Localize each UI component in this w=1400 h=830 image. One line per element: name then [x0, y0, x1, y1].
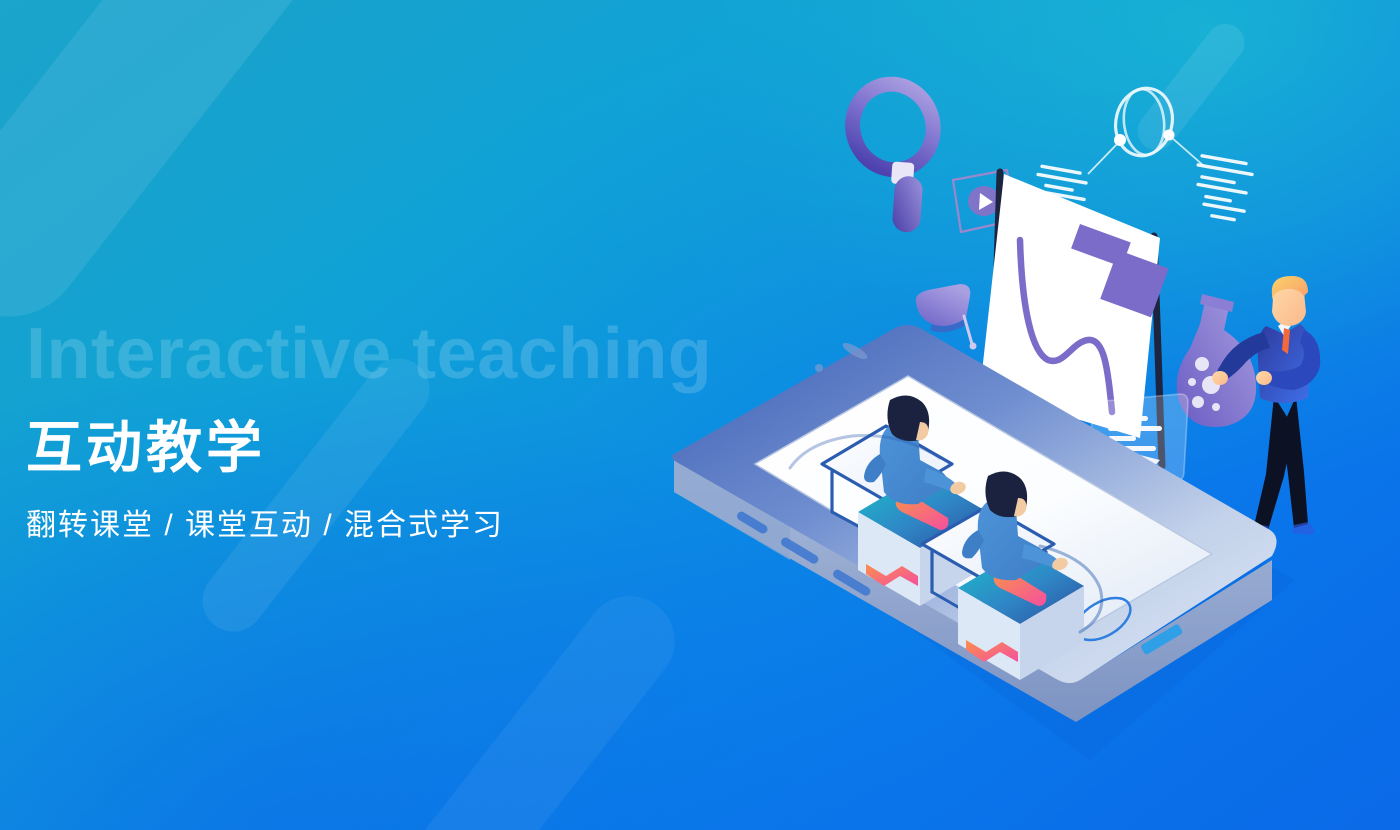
- hero-illustration: [640, 60, 1400, 830]
- page-title: 互动教学: [26, 418, 712, 478]
- hero-text-block: Interactive teaching 互动教学 翻转课堂 / 课堂互动 / …: [26, 318, 712, 544]
- note-lines-right: [1196, 154, 1254, 222]
- teacher-hand-left: [1212, 371, 1228, 385]
- magnifier-icon: [842, 74, 965, 243]
- page-subtitle: 翻转课堂 / 课堂互动 / 混合式学习: [26, 500, 712, 544]
- phone-front-camera: [815, 364, 823, 372]
- hero-banner: Interactive teaching 互动教学 翻转课堂 / 课堂互动 / …: [0, 0, 1400, 830]
- decorative-capsule-large: [0, 0, 366, 347]
- teacher-hand-right: [1256, 371, 1272, 385]
- ghost-title: Interactive teaching: [26, 318, 712, 390]
